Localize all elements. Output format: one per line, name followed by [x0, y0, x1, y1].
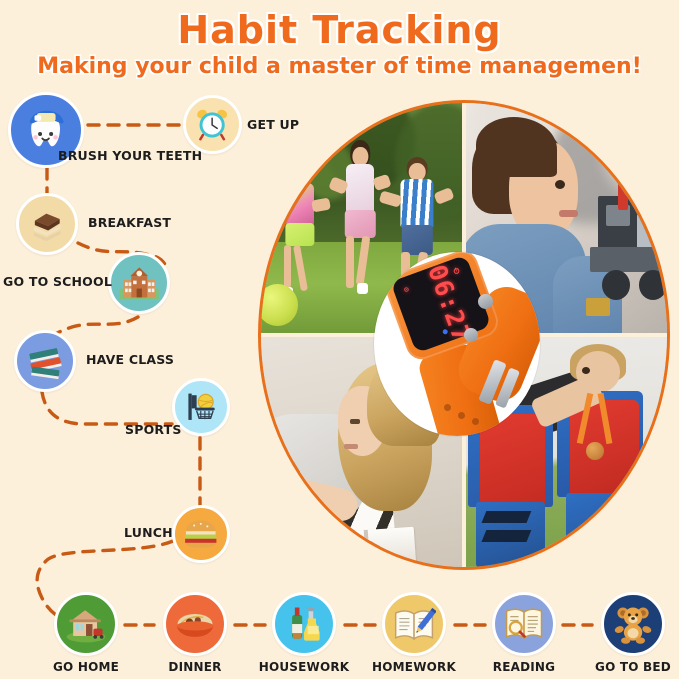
habit-label-get-up: GET UP: [247, 117, 299, 132]
habit-label-reading: READING: [493, 660, 555, 674]
infographic-canvas: Habit Tracking Making your child a maste…: [0, 0, 679, 679]
habit-label-go-to-school: GO TO SCHOOL: [3, 274, 112, 289]
habit-label-have-class: HAVE CLASS: [86, 352, 174, 367]
habit-label-dinner: DINNER: [168, 660, 221, 674]
habit-bubble-go-to-bed[interactable]: [601, 592, 665, 656]
habit-bubble-have-class[interactable]: [14, 330, 76, 392]
habit-bubble-go-to-school[interactable]: [108, 252, 170, 314]
habit-label-housework: HOUSEWORK: [259, 660, 350, 674]
book-magnifier-icon: [502, 602, 546, 646]
product-watch-badge: 06:27 ⚙ ⏱: [374, 252, 540, 436]
habit-bubble-breakfast[interactable]: [16, 193, 78, 255]
habit-label-homework: HOMEWORK: [372, 660, 456, 674]
hamburger-icon: [181, 514, 221, 554]
teddy-bear-icon: [611, 602, 655, 646]
habit-bubble-homework[interactable]: [382, 592, 446, 656]
page-title: Habit Tracking: [0, 8, 679, 52]
cleaning-supplies-icon: [282, 602, 326, 646]
habit-bubble-get-up[interactable]: [183, 95, 242, 154]
habit-label-sports: SPORTS: [125, 422, 182, 437]
habit-bubble-dinner[interactable]: [163, 592, 227, 656]
habit-bubble-lunch[interactable]: [172, 505, 230, 563]
habit-label-brush-your-teeth: BRUSH YOUR TEETH: [58, 148, 202, 163]
pasta-bowl-icon: [173, 602, 217, 646]
basketball-hoop-icon: [181, 387, 221, 427]
habit-bubble-housework[interactable]: [272, 592, 336, 656]
watch-crown: [478, 294, 493, 309]
habit-bubble-go-home[interactable]: [54, 592, 118, 656]
habit-label-go-home: GO HOME: [53, 660, 119, 674]
habit-label-go-to-bed: GO TO BED: [595, 660, 671, 674]
books-icon: [24, 340, 67, 383]
house-icon: [64, 602, 108, 646]
habit-bubble-reading[interactable]: [492, 592, 556, 656]
alarm-clock-icon: [192, 104, 232, 144]
habit-label-breakfast: BREAKFAST: [88, 215, 171, 230]
sandwich-icon: [26, 203, 69, 246]
school-icon: [118, 262, 161, 305]
page-subtitle: Making your child a master of time manag…: [0, 54, 679, 79]
habit-label-lunch: LUNCH: [124, 525, 173, 540]
open-book-pen-icon: [392, 602, 436, 646]
